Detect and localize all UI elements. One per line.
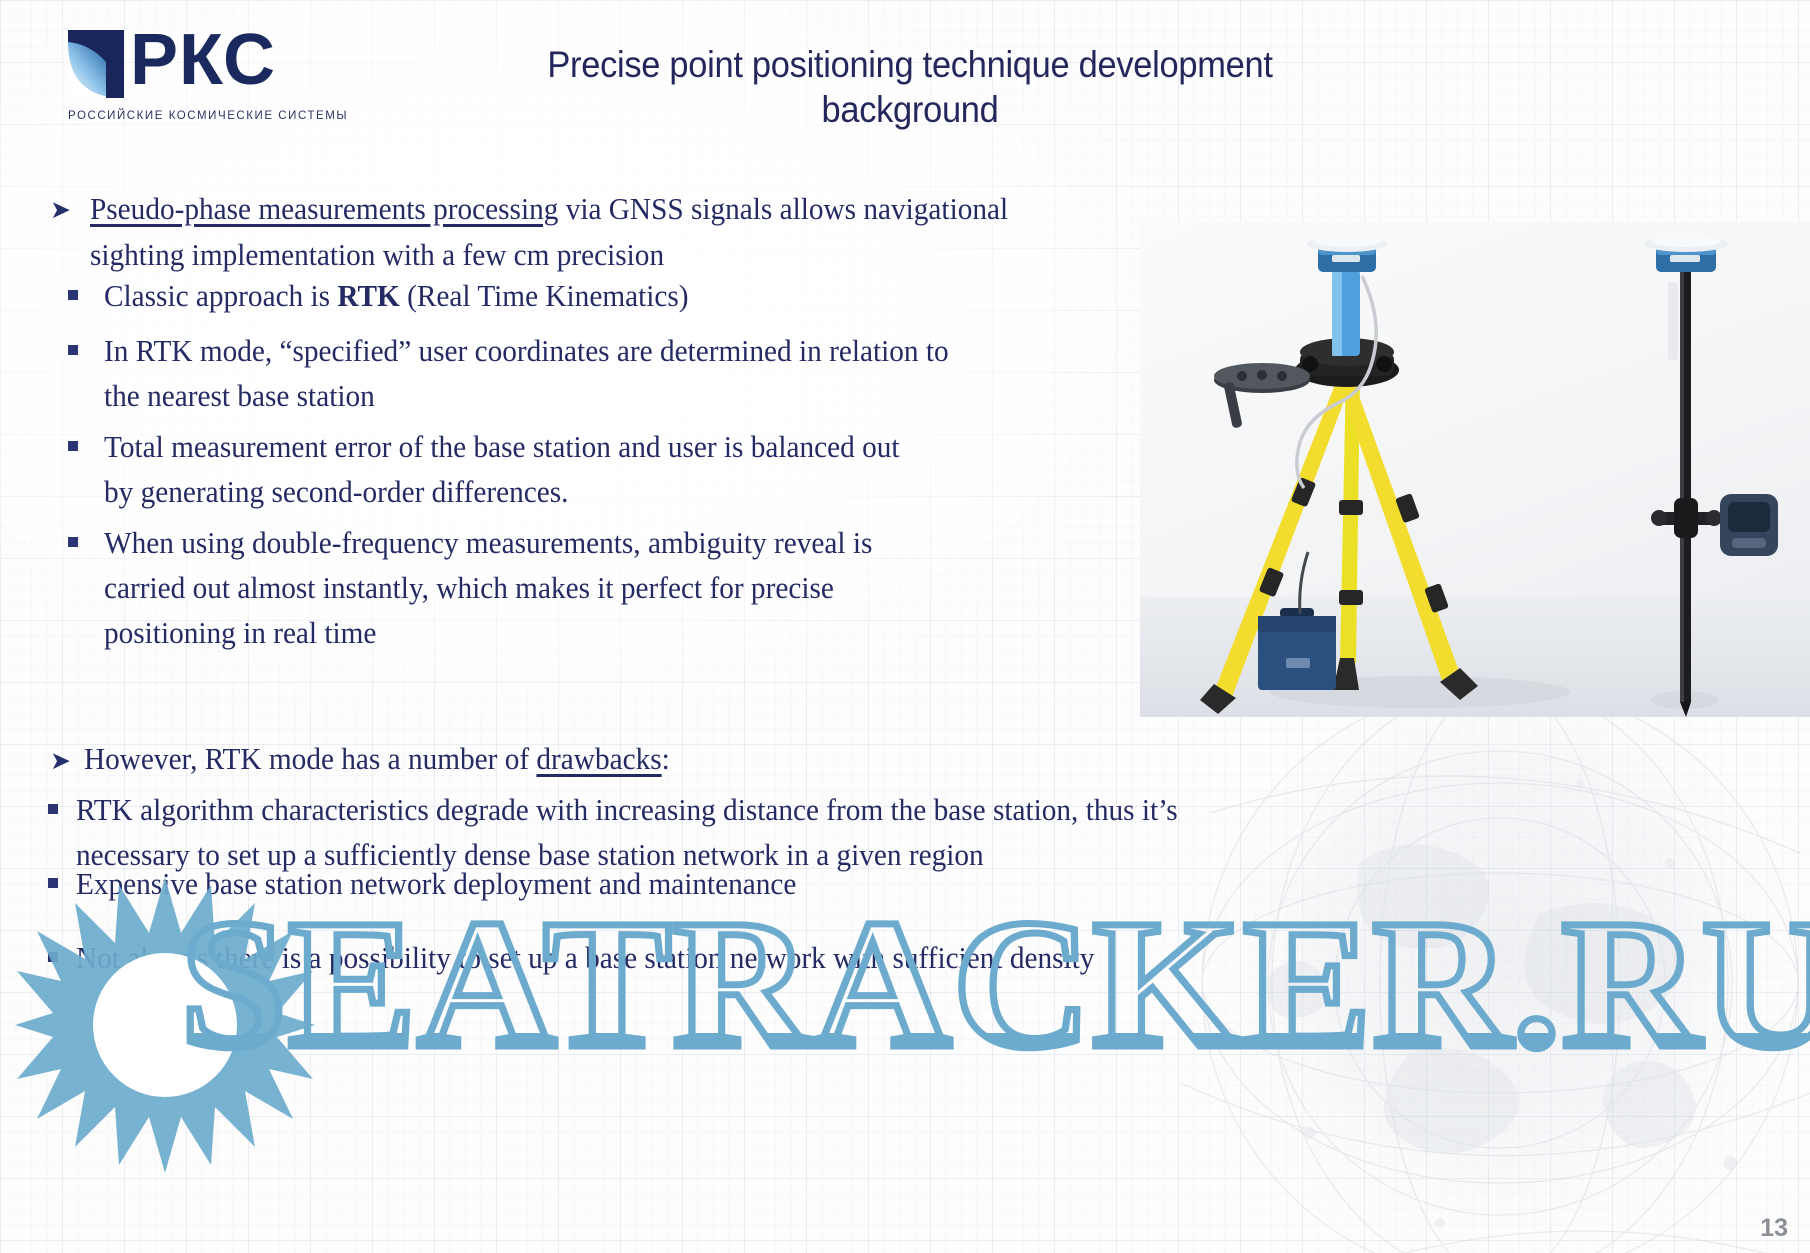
- body-line: Total measurement error of the base stat…: [104, 432, 900, 463]
- bullet-marker-square: [48, 804, 58, 814]
- watermark-text-outline: SEATRACKER.RU: [180, 892, 1810, 1077]
- body-text-underlined: Pseudo-phase measurements processing: [90, 192, 558, 226]
- rks-logo: РКС РОССИЙСКИЕ КОСМИЧЕСКИЕ СИСТЕМЫ: [66, 28, 306, 128]
- body-line: Classic approach is RTK (Real Time Kinem…: [104, 281, 689, 312]
- bullet-marker-arrow: ➤: [50, 749, 71, 774]
- body-text: When using double-frequency measurements…: [104, 526, 872, 560]
- base-gnss-antenna: [1307, 235, 1387, 272]
- body-text: positioning in real time: [104, 616, 376, 650]
- page-title: Precise point positioning technique deve…: [417, 42, 1403, 132]
- body-line: Pseudo-phase measurements processing via…: [90, 194, 1008, 225]
- sunburst-star-icon: [15, 875, 315, 1175]
- title-line-2: background: [417, 87, 1403, 132]
- bullet-marker-square: [48, 878, 58, 888]
- body-text: Total measurement error of the base stat…: [104, 430, 900, 464]
- body-text: Not always there is a possibility to set…: [76, 941, 1094, 975]
- watermark-text-fill: SEATRACKER.RU: [180, 1033, 1810, 1077]
- body-text: :: [662, 742, 670, 776]
- body-line: In RTK mode, “specified” user coordinate…: [104, 336, 949, 367]
- equipment-case: [1258, 608, 1336, 690]
- bullet-marker-square: [48, 952, 58, 962]
- rover-pole: [1651, 270, 1778, 702]
- body-text: via GNSS signals allows navigational: [558, 192, 1008, 226]
- body-text: carried out almost instantly, which make…: [104, 571, 834, 605]
- body-text: In RTK mode, “specified” user coordinate…: [104, 334, 949, 368]
- body-line: the nearest base station: [104, 381, 375, 412]
- body-text: sighting implementation with a few cm pr…: [90, 238, 664, 272]
- body-line: RTK algorithm characteristics degrade wi…: [76, 795, 1178, 826]
- rover-gnss-antenna: [1644, 235, 1728, 272]
- body-line: carried out almost instantly, which make…: [104, 573, 834, 604]
- body-line: However, RTK mode has a number of drawba…: [84, 744, 670, 775]
- body-text: Expensive base station network deploymen…: [76, 867, 796, 901]
- tripod-plummet-plate: [1214, 363, 1310, 429]
- body-line: When using double-frequency measurements…: [104, 528, 872, 559]
- body-line: sighting implementation with a few cm pr…: [90, 240, 664, 271]
- rks-logo-mark-icon: [66, 28, 126, 100]
- bullet-marker-square: [68, 537, 78, 547]
- body-text: by generating second-order differences.: [104, 475, 568, 509]
- body-text: However, RTK mode has a number of: [84, 742, 536, 776]
- logo-subtitle: РОССИЙСКИЕ КОСМИЧЕСКИЕ СИСТЕМЫ: [68, 110, 348, 122]
- bullet-marker-square: [68, 441, 78, 451]
- body-text: (Real Time Kinematics): [400, 279, 689, 313]
- body-text: RTK algorithm characteristics degrade wi…: [76, 793, 1178, 827]
- body-line: positioning in real time: [104, 618, 376, 649]
- bullet-marker-square: [68, 345, 78, 355]
- body-text: Classic approach is: [104, 279, 337, 313]
- presentation-slide: РКС РОССИЙСКИЕ КОСМИЧЕСКИЕ СИСТЕМЫ Preci…: [0, 0, 1810, 1253]
- gnss-rtk-survey-equipment-photo: [1140, 222, 1810, 717]
- body-text-underlined: drawbacks: [536, 742, 661, 776]
- watermark-text-fill-clip: SEATRACKER.RU: [0, 1033, 1810, 1253]
- body-line: Not always there is a possibility to set…: [76, 943, 1094, 974]
- page-number: 13: [1760, 1214, 1788, 1243]
- body-text: the nearest base station: [104, 379, 375, 413]
- bullet-marker-square: [68, 290, 78, 300]
- logo-acronym: РКС: [130, 24, 276, 96]
- body-text-bold: RTK: [337, 279, 399, 313]
- body-line: necessary to set up a sufficiently dense…: [76, 840, 984, 871]
- body-line: by generating second-order differences.: [104, 477, 568, 508]
- body-line: Expensive base station network deploymen…: [76, 869, 796, 900]
- globe-background-graphic: [1110, 663, 1810, 1253]
- bullet-marker-arrow: ➤: [50, 198, 71, 223]
- title-line-1: Precise point positioning technique deve…: [417, 42, 1403, 87]
